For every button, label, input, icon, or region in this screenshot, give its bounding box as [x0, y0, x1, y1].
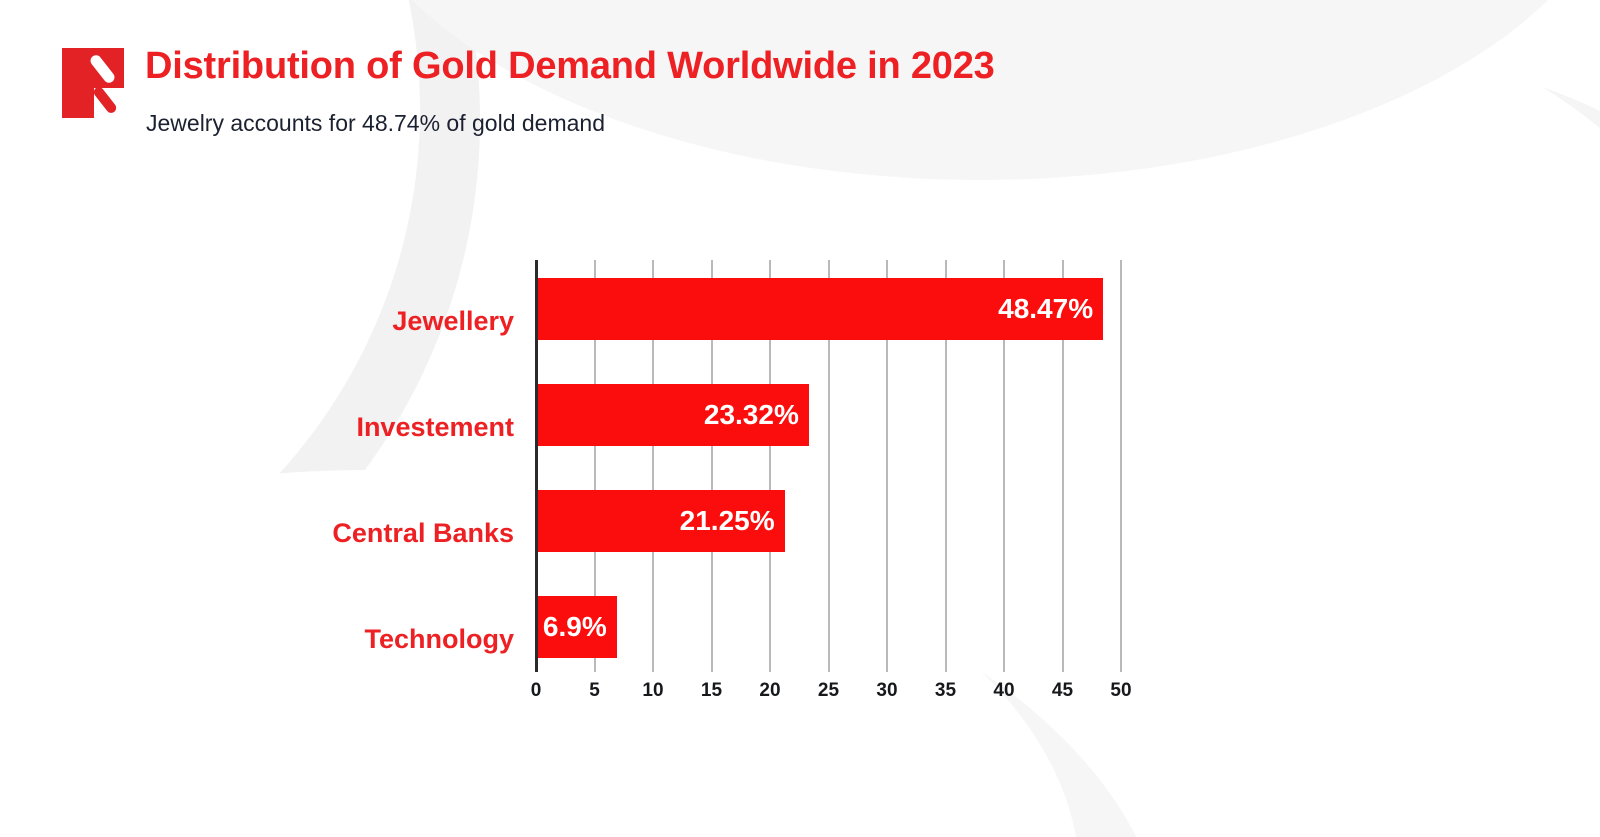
x-tick-label: 20 — [759, 680, 780, 702]
plot-area: 0510152025303540455048.47%23.32%21.25%6.… — [536, 260, 1121, 672]
x-tick-label: 25 — [818, 680, 839, 702]
bar-value-label: 21.25% — [680, 490, 775, 552]
bar-row[interactable]: 23.32% — [536, 384, 809, 446]
category-label: Technology — [364, 608, 514, 670]
category-label: Jewellery — [392, 290, 514, 352]
x-tick-label: 50 — [1110, 680, 1131, 702]
x-tick-label: 35 — [935, 680, 956, 702]
bar-row[interactable]: 21.25% — [536, 490, 785, 552]
x-tick-label: 5 — [589, 680, 600, 702]
bar-row[interactable]: 6.9% — [536, 596, 617, 658]
bar-value-label: 6.9% — [543, 596, 607, 658]
x-tick-label: 15 — [701, 680, 722, 702]
bar-value-label: 23.32% — [704, 384, 799, 446]
bar-chart: 0510152025303540455048.47%23.32%21.25%6.… — [0, 0, 1600, 837]
bar-row[interactable]: 48.47% — [536, 278, 1103, 340]
x-tick-label: 40 — [993, 680, 1014, 702]
gridline — [1120, 260, 1122, 672]
category-label: Central Banks — [332, 502, 514, 564]
category-label: Investement — [356, 396, 514, 458]
x-tick-label: 30 — [876, 680, 897, 702]
value-axis-line — [535, 260, 538, 672]
x-tick-label: 45 — [1052, 680, 1073, 702]
x-tick-label: 0 — [531, 680, 542, 702]
bar-value-label: 48.47% — [998, 278, 1093, 340]
x-tick-label: 10 — [642, 680, 663, 702]
